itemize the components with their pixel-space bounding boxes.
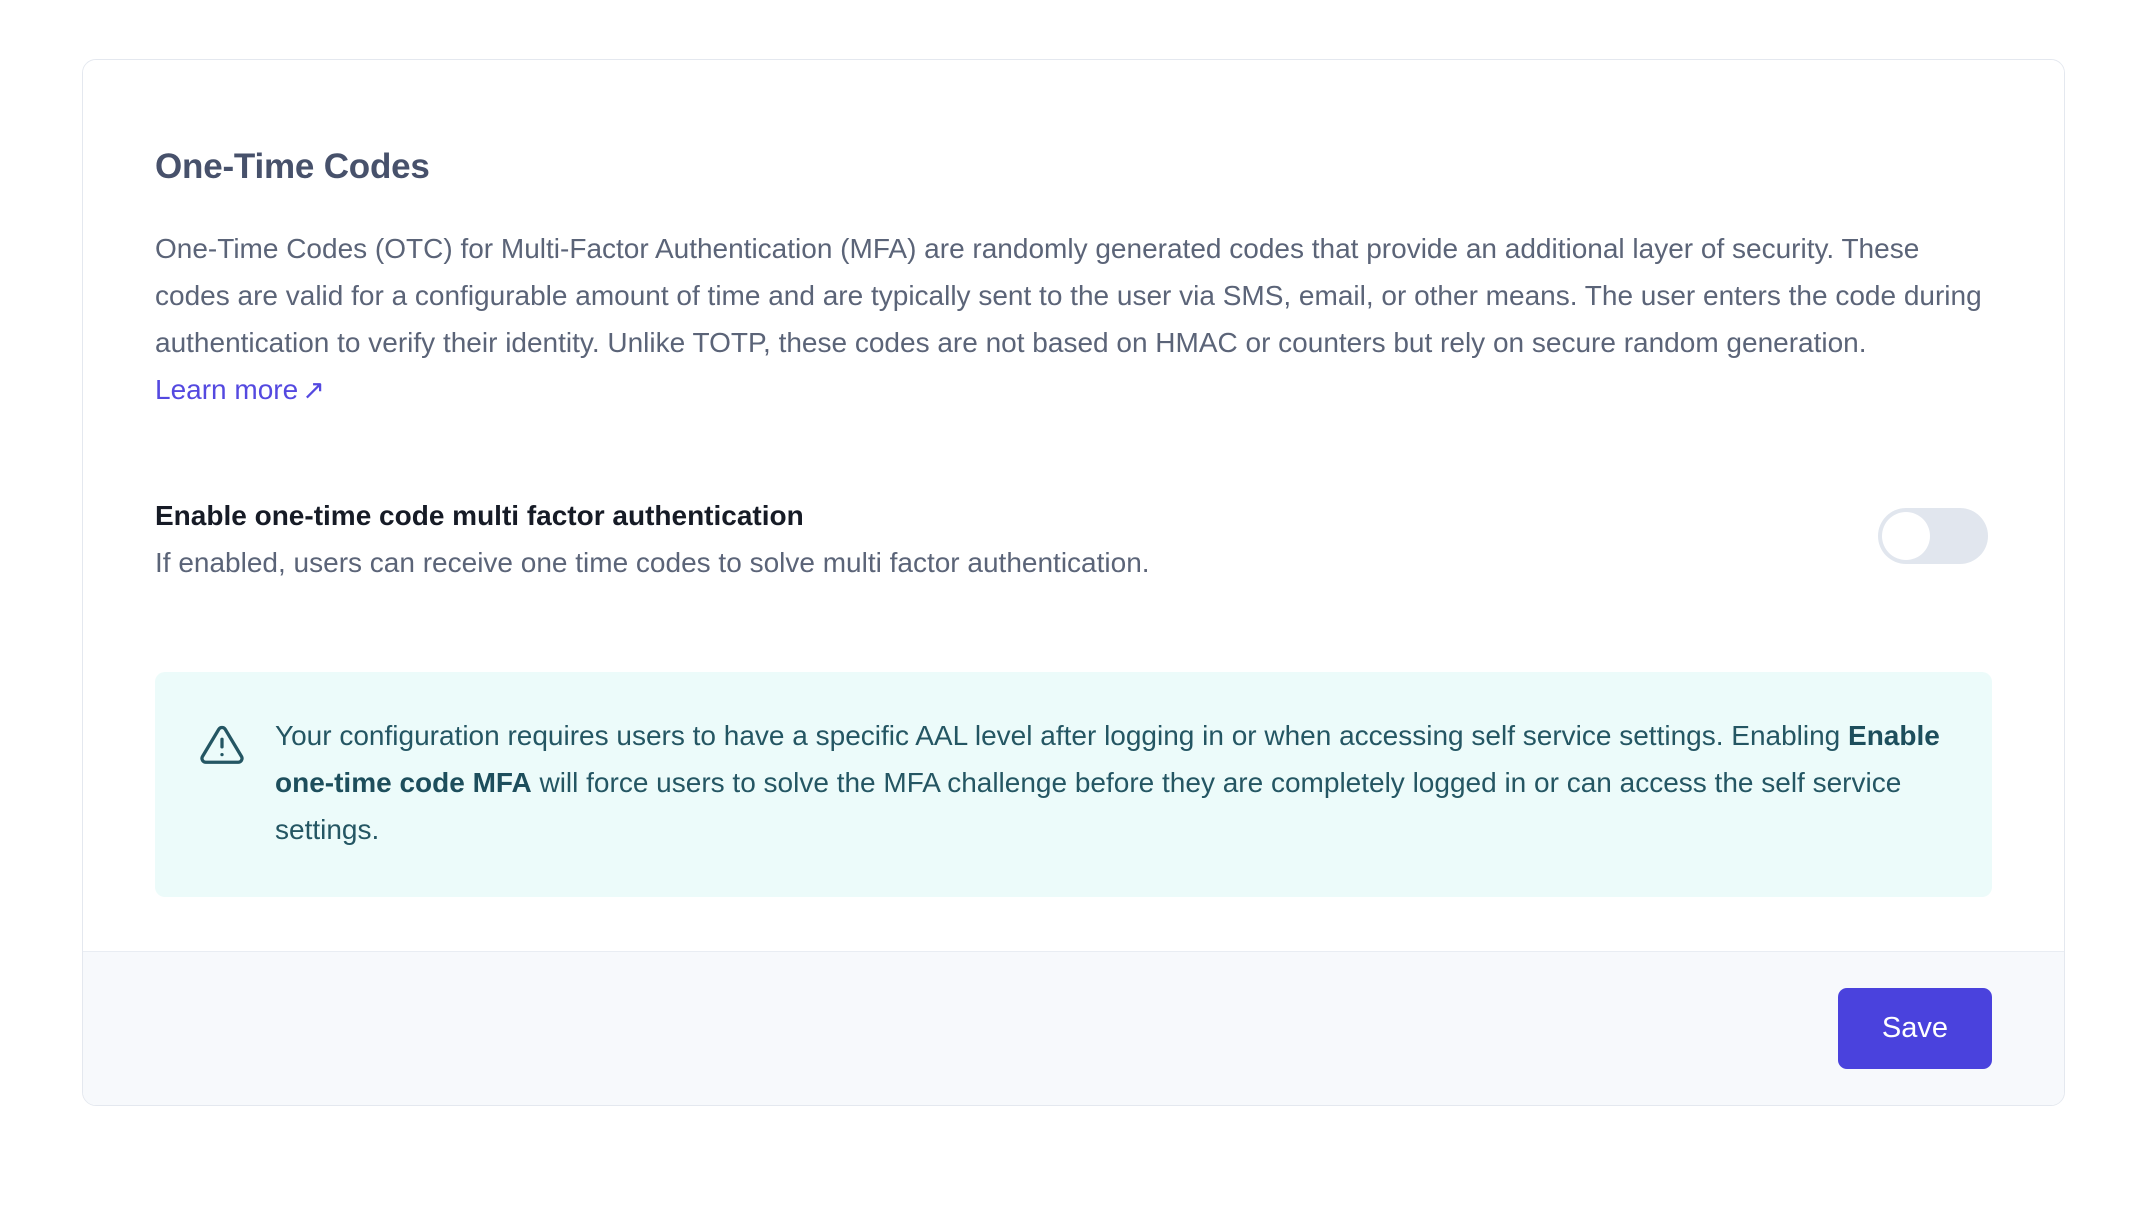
enable-otc-mfa-row: Enable one-time code multi factor authen… bbox=[155, 498, 1992, 582]
one-time-codes-card: One-Time Codes One-Time Codes (OTC) for … bbox=[82, 59, 2065, 1106]
setting-help-text: If enabled, users can receive one time c… bbox=[155, 544, 1150, 582]
card-footer: Save bbox=[83, 951, 2064, 1105]
callout-text: Your configuration requires users to hav… bbox=[275, 712, 1948, 853]
setting-label: Enable one-time code multi factor authen… bbox=[155, 498, 1150, 534]
external-link-arrow-icon: ↗ bbox=[302, 367, 325, 414]
aal-warning-callout: Your configuration requires users to hav… bbox=[155, 672, 1992, 897]
learn-more-label: Learn more bbox=[155, 374, 298, 405]
callout-text-part1: Your configuration requires users to hav… bbox=[275, 720, 1848, 751]
learn-more-link[interactable]: Learn more↗ bbox=[155, 374, 325, 405]
save-button[interactable]: Save bbox=[1838, 988, 1992, 1069]
setting-text-block: Enable one-time code multi factor authen… bbox=[155, 498, 1150, 582]
enable-otc-mfa-toggle[interactable] bbox=[1878, 508, 1988, 564]
page-root: One-Time Codes One-Time Codes (OTC) for … bbox=[0, 0, 2146, 1218]
card-body: One-Time Codes One-Time Codes (OTC) for … bbox=[83, 60, 2064, 951]
page-title: One-Time Codes bbox=[155, 147, 1992, 187]
card-description: One-Time Codes (OTC) for Multi-Factor Au… bbox=[155, 225, 1992, 414]
toggle-knob bbox=[1882, 512, 1930, 560]
warning-triangle-icon bbox=[199, 722, 245, 768]
card-description-text: One-Time Codes (OTC) for Multi-Factor Au… bbox=[155, 233, 1982, 358]
